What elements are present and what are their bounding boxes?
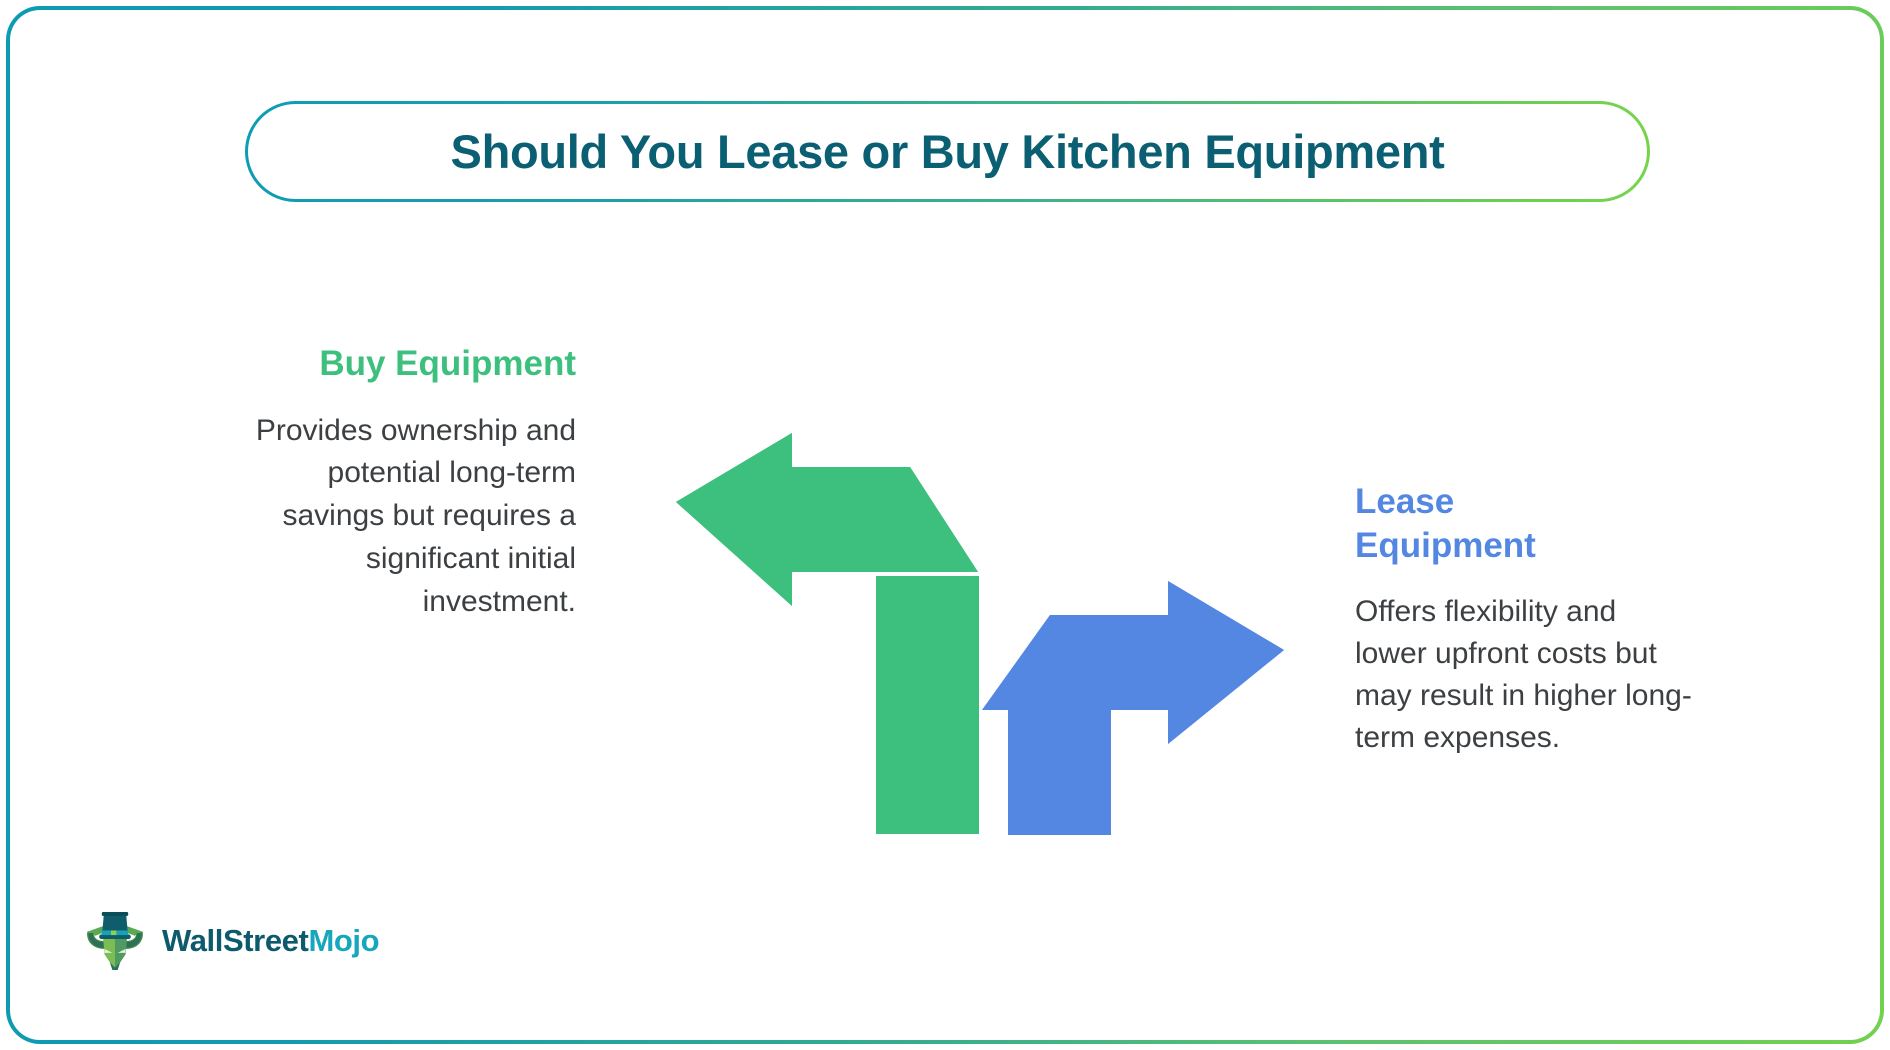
logo-text-mojo: Mojo: [308, 923, 379, 958]
lease-equipment-description: Offers flexibility and lower upfront cos…: [1355, 591, 1695, 759]
blue-pillar: [1008, 705, 1111, 835]
green-left-arrow-icon: [676, 433, 979, 834]
title-box-inner: Should You Lease or Buy Kitchen Equipmen…: [248, 104, 1647, 199]
buy-equipment-block: Buy Equipment Provides ownership and pot…: [226, 345, 576, 624]
title-box: Should You Lease or Buy Kitchen Equipmen…: [245, 101, 1650, 202]
wallstreetmojo-logo[interactable]: WallStreetMojo: [82, 908, 379, 974]
buy-equipment-description: Provides ownership and potential long-te…: [226, 410, 576, 624]
logo-wordmark: WallStreetMojo: [162, 923, 379, 959]
infographic-canvas: Should You Lease or Buy Kitchen Equipmen…: [0, 0, 1890, 1050]
arrows-graphic: [640, 410, 1320, 860]
buy-equipment-heading: Buy Equipment: [226, 345, 576, 384]
lease-equipment-heading: Lease Equipment: [1355, 480, 1585, 569]
logo-text-wallstreet: WallStreet: [162, 923, 308, 958]
blue-right-arrow-icon: [982, 581, 1284, 835]
bull-with-top-hat-logo-icon: [82, 908, 148, 974]
green-pillar: [876, 576, 979, 834]
lease-equipment-block: Lease Equipment Offers flexibility and l…: [1355, 480, 1695, 759]
page-title: Should You Lease or Buy Kitchen Equipmen…: [451, 124, 1445, 179]
